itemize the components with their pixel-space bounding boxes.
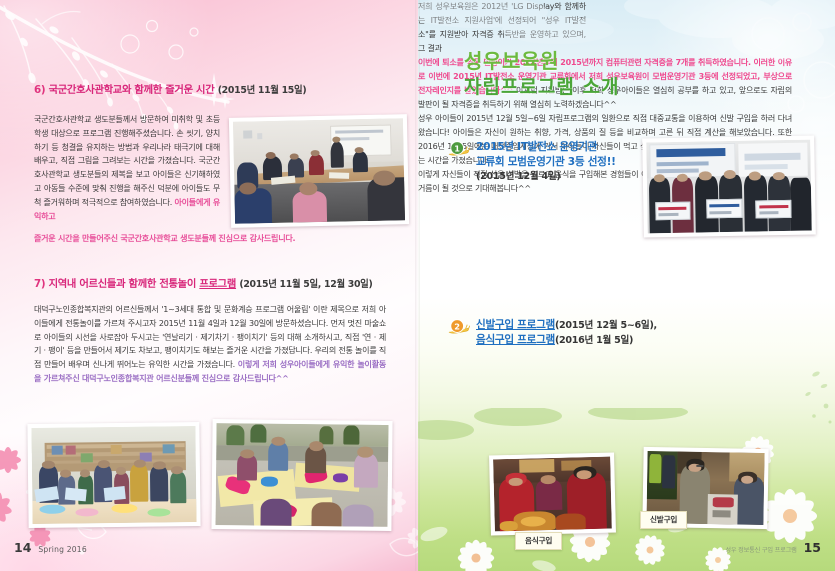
section-6-heading: 6) 국군간호사관학교와 함께한 즐거운 시간 (2015년 11월 15일) [34, 84, 386, 96]
right-page: 성우보육원 자립프로그램 소개 1 2015년 IT발전소 운영기관 교류회 모… [418, 0, 835, 571]
section-7-date: (2015년 11월 5일, 12월 30일) [239, 279, 372, 290]
leaf-dots-decoration [736, 360, 835, 440]
section-1-title-line-2: 교류회 모범운영기관 3등 선정!! [476, 155, 616, 170]
footer-small-text: 성우 정보통신 구입 프로그램 [725, 545, 796, 554]
section-6-body-column: 국군간호사관학교 생도분들께서 방문하여 미취학 및 초등학생 대상으로 프로그… [34, 113, 220, 224]
section-2-date-a: (2015년 12월 5~6일), [555, 320, 657, 331]
issue-label: Spring 2016 [38, 545, 86, 554]
section-2-heading: 신발구입 프로그램(2015년 12월 5~6일), 음식구입 프로그램(201… [476, 318, 657, 348]
classroom-photo [229, 114, 409, 228]
section-6-number: 6) [34, 84, 45, 96]
food-purchase-photo [489, 452, 616, 535]
section-7-title-a: 지역내 어르신들과 함께한 전통놀이 [49, 278, 196, 290]
section-1-date: (2015년 12월 4일) [476, 170, 616, 184]
snail-badge-2-icon: 2 [448, 318, 470, 335]
section-1-title-line-1: 2015년 IT발전소 운영기관 [476, 140, 616, 155]
section-7-heading: 7) 지역내 어르신들과 함께한 전통놀이 프로그램 (2015년 11월 5일… [34, 278, 386, 290]
section-2-title-a: 신발구입 프로그램 [476, 319, 555, 331]
traditional-play-craft-photo [211, 419, 392, 531]
badge-1-number: 1 [454, 143, 460, 153]
section-6-date: (2015년 11월 15일) [218, 85, 307, 96]
title-line-2: 자립프로그램 소개 [464, 75, 619, 101]
section-1-heading: 2015년 IT발전소 운영기관 교류회 모범운영기관 3등 선정!! (201… [476, 140, 616, 184]
right-page-number: 15 [804, 540, 821, 555]
section-7-number: 7) [34, 278, 45, 290]
left-page-number: 14 [14, 540, 31, 555]
left-page-footer: 14 Spring 2016 [14, 540, 87, 555]
badge-2-number: 2 [454, 321, 460, 331]
food-photo-caption: 음식구입 [515, 532, 562, 550]
section-1-body-part1: 저희 성우보육원은 2012년 'LG Display와 함께하는 IT발전소 … [418, 2, 586, 53]
section-7-title-b: 프로그램 [199, 278, 236, 290]
award-ceremony-photo [642, 136, 816, 238]
section-6-thanks-line: 즐거운 시간을 만들어주신 국군간호사관학교 생도분들께 진심으로 감사드립니다… [34, 234, 295, 243]
section-2-title-b: 음식구입 프로그램 [476, 334, 555, 346]
left-page: 6) 국군간호사관학교와 함께한 즐거운 시간 (2015년 11월 15일) … [0, 0, 418, 571]
snail-badge-1-icon: 1 [448, 140, 470, 157]
elders-with-children-photo [27, 422, 200, 528]
right-page-title: 성우보육원 자립프로그램 소개 [464, 48, 619, 101]
section-6-body-text: 국군간호사관학교 생도분들께서 방문하여 미취학 및 초등학생 대상으로 프로그… [34, 115, 220, 207]
section-7-body: 대덕구노인종합복지관의 어르신들께서 '1~3세대 통합 및 문화계승 프로그램… [34, 303, 386, 386]
magazine-spread: 6) 국군간호사관학교와 함께한 즐거운 시간 (2015년 11월 15일) … [0, 0, 835, 571]
section-6-body-fullwidth: 즐거운 시간을 만들어주신 국군간호사관학교 생도분들께 진심으로 감사드립니다… [34, 232, 386, 246]
right-page-footer: 성우 정보통신 구입 프로그램 15 [725, 540, 821, 555]
title-line-1: 성우보육원 [464, 48, 619, 75]
shoe-photo-caption: 신발구입 [640, 511, 687, 529]
section-2-date-b: (2016년 1월 5일) [555, 335, 633, 346]
section-6-title: 국군간호사관학교와 함께한 즐거운 시간 [49, 84, 215, 96]
